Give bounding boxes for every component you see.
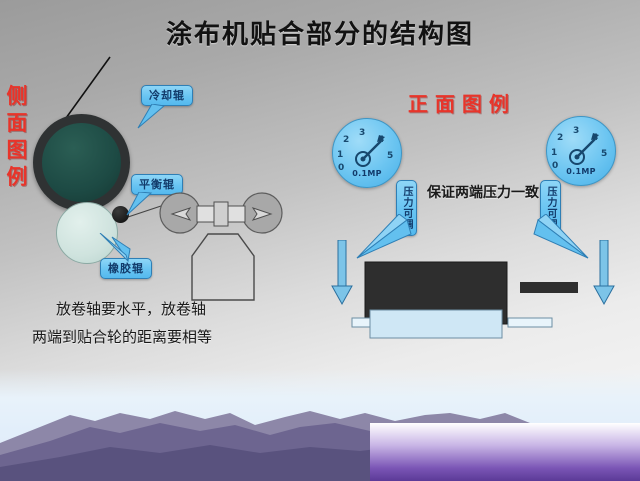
gauge-right-unit: 0.1MP	[547, 167, 615, 176]
caption-line-1: 放卷轴要水平，放卷轴	[56, 298, 206, 319]
front-view-heading: 正面图例	[408, 88, 516, 117]
caption-line-2: 两端到贴合轮的距离要相等	[32, 326, 212, 347]
gauge-left-unit: 0.1MP	[333, 169, 401, 178]
mountain-decoration	[0, 369, 640, 481]
cooling-roller-face	[42, 123, 121, 202]
callout-cooling-roller[interactable]: 冷却辊	[141, 85, 193, 106]
callout-rubber-roller-tail	[86, 233, 132, 263]
pressure-gauge-left[interactable]: 0 1 2 3 4 5 0.1MP	[332, 118, 402, 188]
side-view-machine	[150, 188, 295, 308]
front-view-center-note: 保证两端压力一致	[427, 182, 539, 202]
callout-cooling-roller-tail	[136, 104, 170, 130]
slide-canvas: 涂布机贴合部分的结构图 侧面图例 冷却辊 平衡辊 橡胶辊 放卷轴要水平，放卷	[0, 0, 640, 481]
front-view-machine	[348, 240, 598, 340]
pressure-gauge-right[interactable]: 0 1 2 3 4 5 0.1MP	[546, 116, 616, 186]
purple-accent-band	[370, 423, 640, 481]
page-title: 涂布机贴合部分的结构图	[0, 14, 640, 51]
